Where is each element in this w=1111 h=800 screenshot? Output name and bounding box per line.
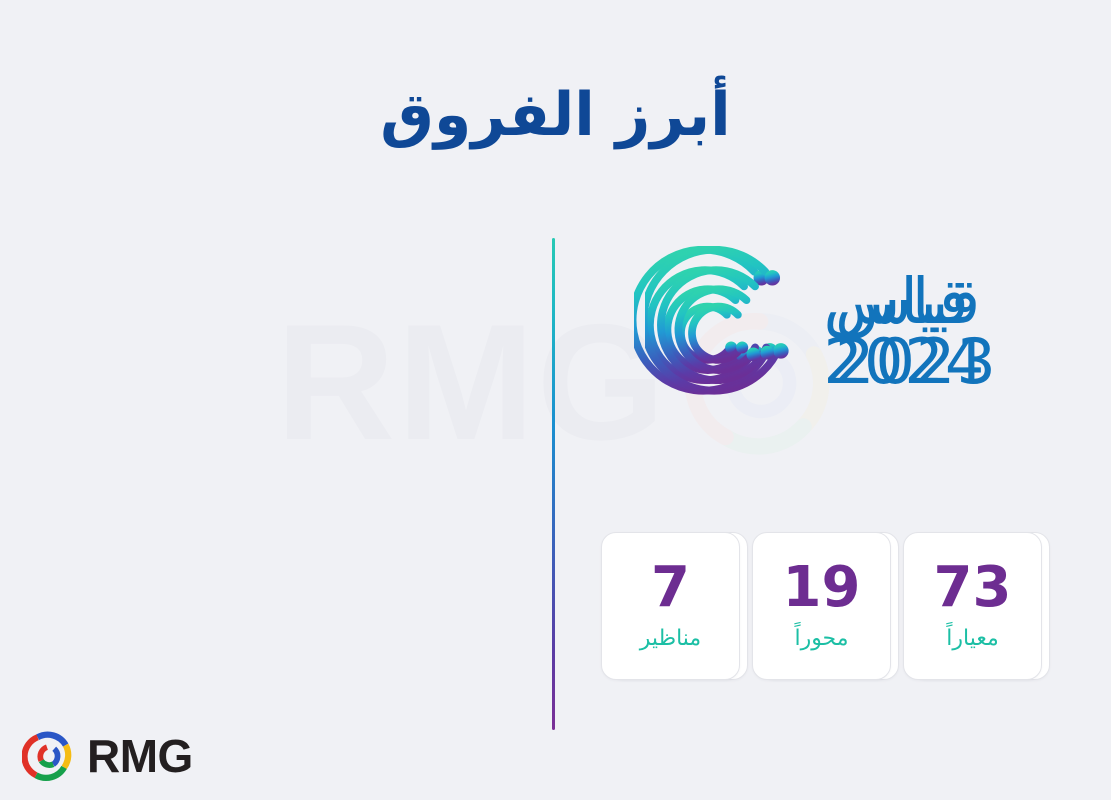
stat-value: 73 bbox=[934, 559, 1012, 616]
stat-label: مناظير bbox=[640, 626, 701, 652]
stat-card: 7 مناظير bbox=[601, 532, 740, 680]
brand-year-2023: 2023 bbox=[835, 332, 997, 393]
rmg-circular-mark-icon bbox=[22, 730, 74, 782]
vertical-gradient-divider bbox=[552, 238, 555, 730]
stat-label: معياراً bbox=[946, 626, 998, 652]
stat-card: 19 محوراً bbox=[752, 532, 891, 680]
stat-label: محوراً bbox=[794, 626, 848, 652]
stat-cards-2023: 7 مناظير 19 محوراً 73 معياراً bbox=[601, 532, 1042, 680]
brand-lockup-2023: قياس 2023 bbox=[645, 246, 997, 418]
rmg-wordmark: RMG bbox=[87, 733, 193, 779]
page-title: أبرز الفروق bbox=[0, 78, 1111, 153]
qiyas-concentric-arcs-icon bbox=[645, 246, 817, 418]
stat-value: 7 bbox=[651, 559, 690, 616]
brand-name-2023: قياس bbox=[835, 271, 980, 333]
stat-card: 73 معياراً bbox=[903, 532, 1042, 680]
rmg-footer-logo: RMG bbox=[22, 730, 193, 782]
stat-value: 19 bbox=[783, 559, 861, 616]
brand-words-2023: قياس 2023 bbox=[835, 271, 997, 393]
